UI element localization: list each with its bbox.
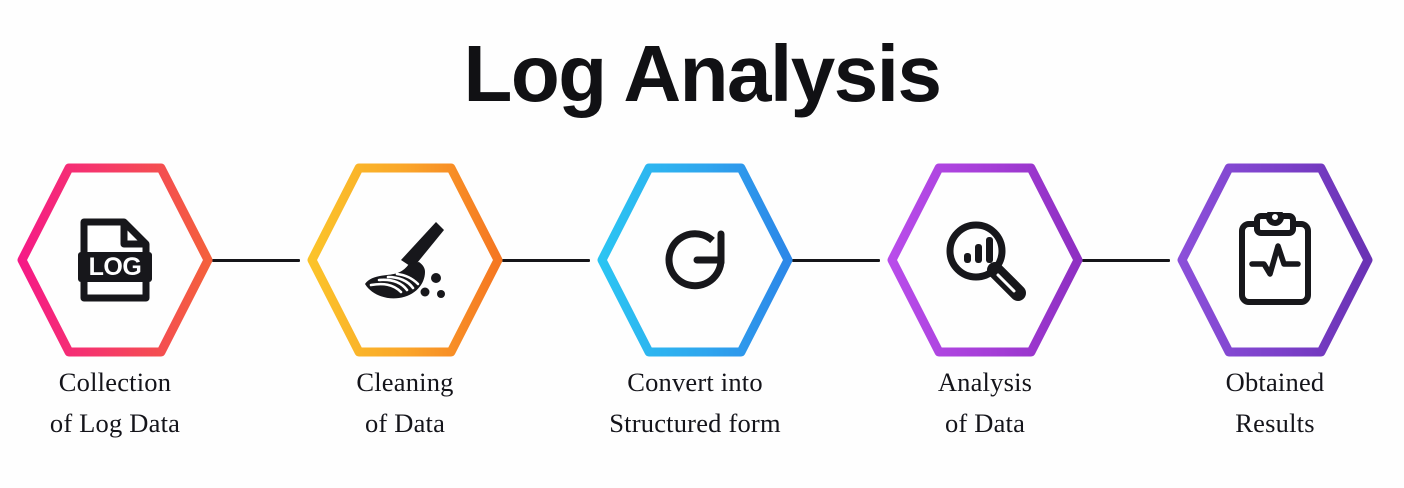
svg-text:LOG: LOG xyxy=(89,253,142,281)
hexagon-3 xyxy=(594,160,796,360)
caption-1-line2: of Log Data xyxy=(0,403,265,444)
caption-step-2: Cleaning of Data xyxy=(255,362,555,444)
process-step-2[interactable] xyxy=(304,160,506,360)
caption-1-line1: Collection xyxy=(59,367,171,397)
caption-5-line2: Results xyxy=(1125,403,1404,444)
process-step-3[interactable] xyxy=(594,160,796,360)
caption-step-4: Analysis of Data xyxy=(835,362,1135,444)
connector-1-2 xyxy=(212,259,300,262)
caption-2-line1: Cleaning xyxy=(356,367,453,397)
connector-4-5 xyxy=(1082,259,1170,262)
caption-3-line1: Convert into xyxy=(627,367,763,397)
process-step-5[interactable] xyxy=(1174,160,1376,360)
page-title: Log Analysis xyxy=(0,34,1404,114)
caption-3-line2: Structured form xyxy=(545,403,845,444)
caption-step-3: Convert into Structured form xyxy=(545,362,845,444)
caption-4-line1: Analysis xyxy=(938,367,1032,397)
process-step-1[interactable]: LOG xyxy=(14,160,216,360)
caption-2-line2: of Data xyxy=(255,403,555,444)
hexagon-1: LOG xyxy=(14,160,216,360)
hexagon-4 xyxy=(884,160,1086,360)
connector-2-3 xyxy=(502,259,590,262)
process-flow: LOG xyxy=(0,160,1404,360)
process-step-4[interactable] xyxy=(884,160,1086,360)
caption-step-1: Collection of Log Data xyxy=(0,362,265,444)
icon-broom xyxy=(304,160,506,360)
step-captions: Collection of Log Data Cleaning of Data … xyxy=(0,362,1404,472)
icon-clipboard-pulse xyxy=(1174,160,1376,360)
caption-step-5: Obtained Results xyxy=(1125,362,1404,444)
hexagon-5 xyxy=(1174,160,1376,360)
icon-log-file: LOG xyxy=(14,160,216,360)
icon-magnifier-bar-chart xyxy=(884,160,1086,360)
caption-5-line1: Obtained xyxy=(1226,367,1325,397)
connector-3-4 xyxy=(792,259,880,262)
caption-4-line2: of Data xyxy=(835,403,1135,444)
icon-convert-refresh xyxy=(594,160,796,360)
hexagon-2 xyxy=(304,160,506,360)
diagram-canvas: Log Analysis xyxy=(0,0,1404,488)
